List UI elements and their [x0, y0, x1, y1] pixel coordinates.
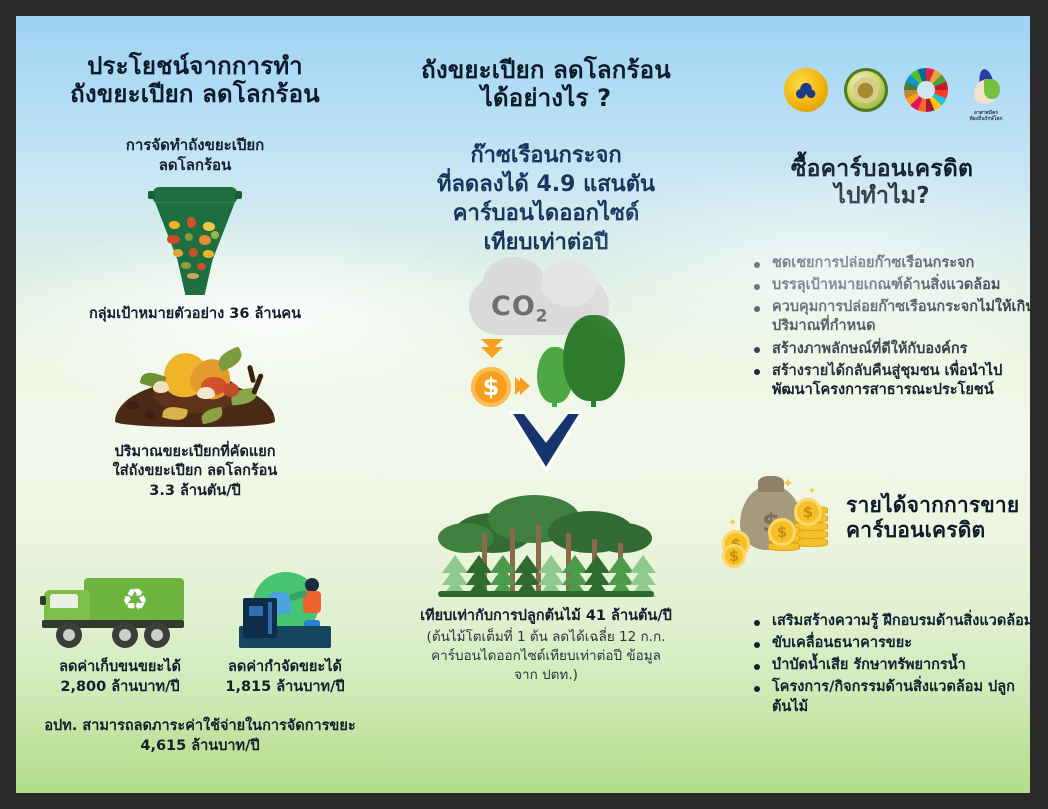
- recycling-truck-icon: ♻: [40, 572, 190, 650]
- local-volunteer-droplet-icon: อาสาสมัครท้องถิ่นรักษ์โลก: [964, 68, 1008, 123]
- left-pile-caption: ปริมาณขยะเปียกที่คัดแยก ใส่ถังขยะเปียก ล…: [30, 443, 360, 502]
- down-arrow-icon: [386, 411, 706, 473]
- infographic-canvas: อาสาสมัครท้องถิ่นรักษ์โลก ประโยชน์จากการ…: [16, 16, 1030, 793]
- right-chevrons-icon: [515, 377, 525, 395]
- right-column-top: ซื้อคาร์บอนเครดิต ไปทำไม?: [732, 156, 1030, 210]
- list-item: ควบคุมการปล่อยก๊าซเรือนกระจกไม่ให้เกิน ป…: [752, 298, 1030, 336]
- left-total-caption: อปท. สามารถลดภาระค่าใช้จ่ายในการจัดการขย…: [40, 717, 360, 756]
- buy-credit-bullet-list: ชดเชยการปล่อยก๊าซเรือนกระจก บรรลุเป้าหมา…: [752, 254, 1030, 403]
- truck-caption: ลดค่าเก็บขนขยะได้ 2,800 ล้านบาท/ปี: [40, 658, 200, 697]
- center-highlight: ก๊าซเรือนกระจก ที่ลดลงได้ 4.9 แสนตัน คาร…: [386, 141, 706, 257]
- garuda-seal-icon: [784, 68, 828, 112]
- list-item: สร้างภาพลักษณ์ที่ดีให้กับองค์กร: [752, 340, 1030, 359]
- ministry-interior-seal-icon: [844, 68, 888, 112]
- coin-icon: $: [471, 367, 511, 407]
- right-title: ซื้อคาร์บอนเครดิต ไปทำไม?: [732, 156, 1030, 210]
- co2-label: CO: [491, 291, 536, 322]
- income-title: รายได้จากการขาย คาร์บอนเครดิต: [846, 493, 1019, 543]
- forest-note: (ต้นไม้โตเต็มที่ 1 ต้น ลดได้เฉลี่ย 12 ก.…: [386, 628, 706, 684]
- center-title: ถังขยะเปียก ลดโลกร้อน ได้อย่างไร ?: [386, 56, 706, 113]
- logo-row: อาสาสมัครท้องถิ่นรักษ์โลก: [784, 68, 1008, 123]
- list-item: บำบัดน้ำเสีย รักษาทรัพยากรน้ำ: [752, 656, 1030, 675]
- waste-sorting-person-icon: [239, 572, 331, 650]
- left-column: ประโยชน์จากการทำ ถังขยะเปียก ลดโลกร้อน ก…: [30, 52, 360, 501]
- list-item: สร้างรายได้กลับคืนสู่ชุมชน เพื่อนำไป พัฒ…: [752, 362, 1030, 400]
- co2-subscript: 2: [536, 306, 549, 326]
- big-tree-icon: [563, 315, 625, 401]
- left-lower-row: ♻ ลดค่าเก็บขนขยะได้ 2,800 ล้านบาท/ปี: [40, 572, 360, 756]
- list-item: ชดเชยการปล่อยก๊าซเรือนกระจก: [752, 254, 1030, 273]
- forest-caption-main: เทียบเท่ากับการปลูกต้นไม้ 41 ล้านต้น/ปี: [386, 607, 706, 627]
- truck-block: ♻ ลดค่าเก็บขนขยะได้ 2,800 ล้านบาท/ปี: [40, 572, 200, 697]
- left-title: ประโยชน์จากการทำ ถังขยะเปียก ลดโลกร้อน: [30, 52, 360, 109]
- logo-caption: อาสาสมัครท้องถิ่นรักษ์โลก: [964, 110, 1008, 123]
- forest-icon: [386, 487, 706, 597]
- list-item: โครงการ/กิจกรรมด้านสิ่งแวดล้อม ปลูกต้นไม…: [752, 678, 1030, 716]
- green-compost-bin-icon: [30, 187, 360, 295]
- list-item: เสริมสร้างความรู้ ฝึกอบรมด้านสิ่งแวดล้อม: [752, 612, 1030, 631]
- sorting-block: ลดค่ากำจัดขยะได้ 1,815 ล้านบาท/ปี: [222, 572, 348, 697]
- center-column: ถังขยะเปียก ลดโลกร้อน ได้อย่างไร ? ก๊าซเ…: [386, 56, 706, 684]
- list-item: ขับเคลื่อนธนาคารขยะ: [752, 634, 1030, 653]
- sorting-caption: ลดค่ากำจัดขยะได้ 1,815 ล้านบาท/ปี: [222, 658, 348, 697]
- income-header: $ $ $ $ $ ✦ ✦ ✦ รายได้จากการขาย คาร์บอนเ…: [722, 472, 1030, 564]
- food-waste-pile-icon: [30, 343, 360, 435]
- down-chevrons-icon: [481, 339, 503, 355]
- left-subtitle: การจัดทำถังขยะเปียก ลดโลกร้อน: [30, 135, 360, 176]
- income-bullet-list: เสริมสร้างความรู้ ฝึกอบรมด้านสิ่งแวดล้อม…: [752, 612, 1030, 720]
- money-bag-coins-icon: $ $ $ $ $ ✦ ✦ ✦: [722, 472, 842, 564]
- list-item: บรรลุเป้าหมายเกณฑ์ด้านสิ่งแวดล้อม: [752, 276, 1030, 295]
- sdg-wheel-icon: [904, 68, 948, 112]
- left-bin-caption: กลุ่มเป้าหมายตัวอย่าง 36 ล้านคน: [30, 305, 360, 325]
- co2-cloud-icon: CO2 $: [386, 275, 706, 405]
